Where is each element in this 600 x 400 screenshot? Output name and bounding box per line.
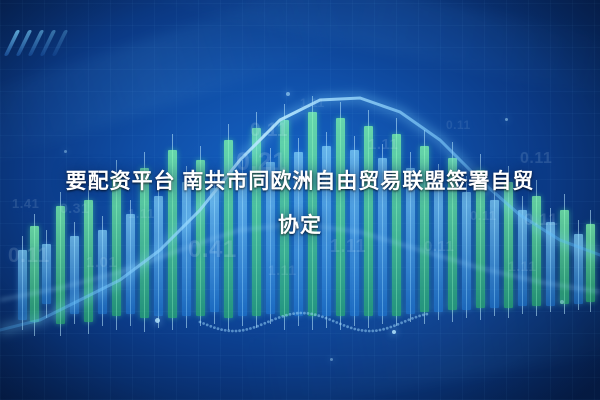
wave-dot [224,329,227,332]
wave-dot [346,325,349,328]
wave-dot [335,321,338,324]
wave-dot [339,323,342,326]
wave-dot [274,317,277,320]
overlay-number: 1.11 [368,136,398,153]
wave-dot [292,312,295,315]
wave-dot [382,328,385,331]
wave-dot [281,315,284,318]
wave-dot [289,313,292,316]
wave-dot [415,316,418,319]
wave-dot [238,329,241,332]
wave-dot [253,326,256,329]
wave-dot [245,328,248,331]
wave-dot [400,321,403,324]
wave-dot [256,325,259,328]
wave-dot [249,327,252,330]
wave-dot [314,313,317,316]
wave-dot [379,329,382,332]
wave-dot [375,329,378,332]
wave-dot [397,323,400,326]
overlay-number: 0.11 [250,120,288,142]
wave-dot [411,317,414,320]
wave-dot [364,329,367,332]
wave-dot [213,326,216,329]
wave-dot [325,317,328,320]
wave-dot [332,320,335,323]
wave-dot [299,312,302,315]
wave-dot [307,312,310,315]
wave-dot [350,327,353,330]
spark-dot [286,92,290,96]
wave-dot [321,315,324,318]
overlay-number: 1.11 [268,262,296,278]
wave-dot [217,327,220,330]
wave-dot [209,325,212,328]
wave-dot [425,313,428,316]
spark-dot [505,118,508,121]
overlay-number: 0.11 [446,118,471,132]
wave-dot [418,315,421,318]
wave-dot [393,324,396,327]
wave-dot [328,318,331,321]
wave-dot [368,330,371,333]
wave-dot [303,312,306,315]
wave-dot [361,329,364,332]
wave-dot [310,313,313,316]
wave-dot [353,328,356,331]
spark-dot [392,330,396,334]
wave-dot [371,330,374,333]
wave-dot [389,326,392,329]
wave-dot [285,314,288,317]
wave-dot [267,320,270,323]
wave-dot [260,323,263,326]
wave-dot [407,318,410,321]
overlay-number: 1.11 [508,258,536,274]
wave-dot [404,320,407,323]
wave-dot [357,328,360,331]
wave-dot [235,330,238,333]
headline-line-1: 要配资平台 南共市同欧洲自由贸易联盟签署自贸 [66,170,535,193]
wave-dot [317,314,320,317]
wave-dot [220,328,223,331]
wave-dot [343,324,346,327]
spark-dot [560,300,564,304]
headline-line-2: 协定 [10,204,590,248]
spark-dot [330,358,333,361]
wave-dot [206,324,209,327]
wave-dot [199,321,202,324]
wave-dot [271,319,274,322]
overlay-number: 1.11 [300,96,325,110]
overlay-number: 1.01 [86,254,117,271]
wave-dot [263,322,266,325]
headline-text: 要配资平台 南共市同欧洲自由贸易联盟签署自贸 协定 [0,160,600,248]
wave-dot [202,322,205,325]
spark-dot [155,318,160,323]
wave-dot [386,327,389,330]
wave-dot [278,316,281,319]
wave-dot [242,329,245,332]
wave-dot [227,329,230,332]
spark-dot [64,150,67,153]
wave-dot [231,330,234,333]
wave-dot [422,314,425,317]
wave-dot [296,312,299,315]
banner-image: 0.111.110.210.111.410.311.110.110.110.41… [0,0,600,400]
